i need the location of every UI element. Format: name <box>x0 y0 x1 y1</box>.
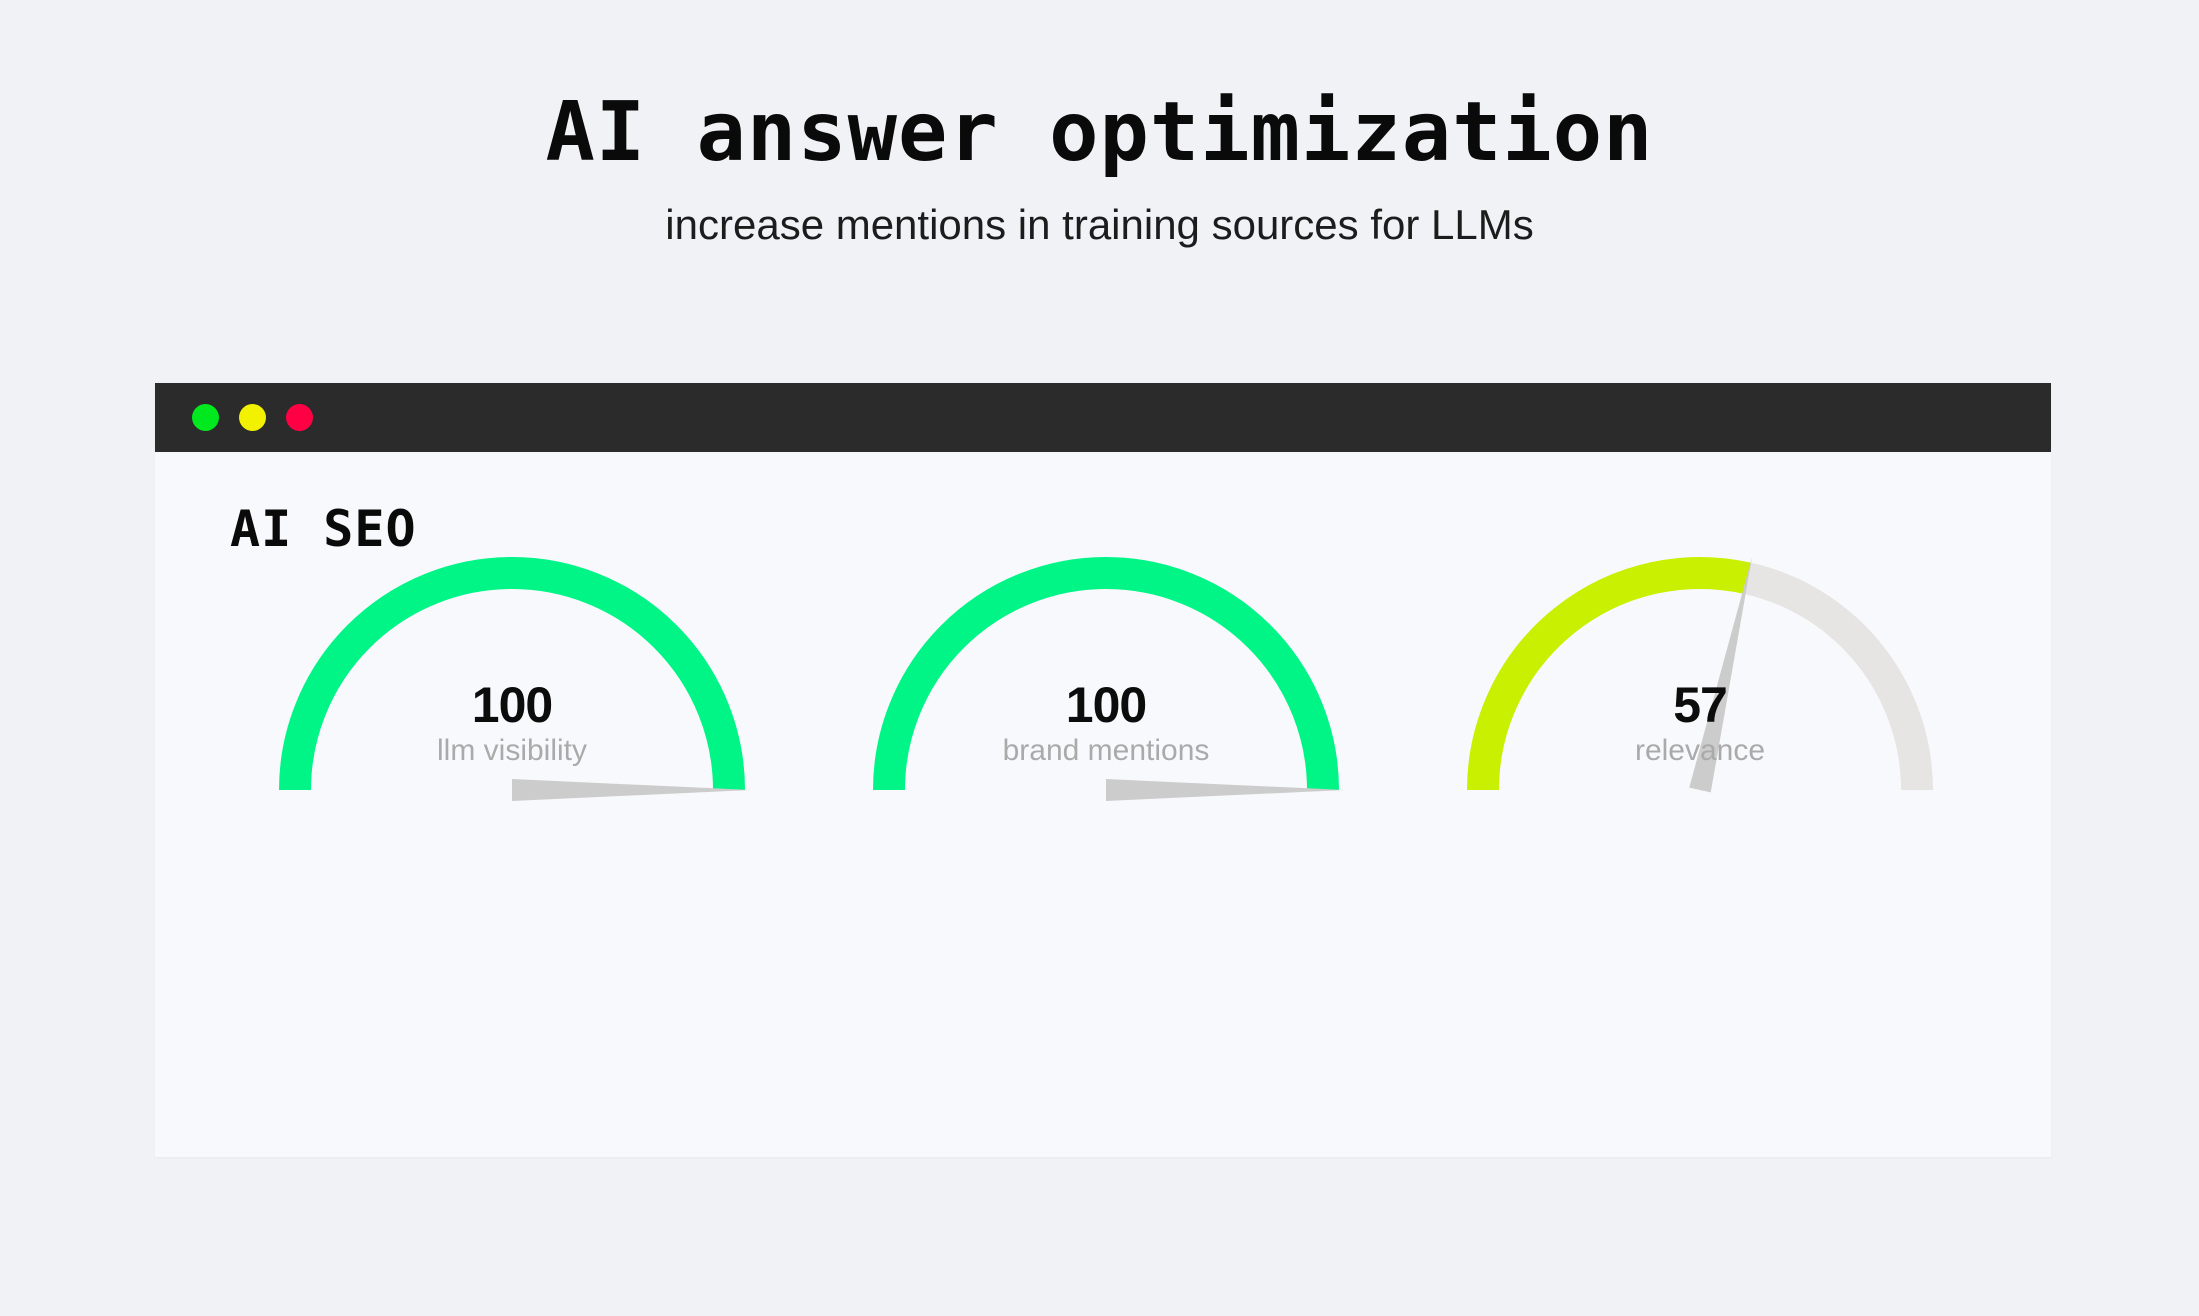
gauge-value-arc <box>295 573 729 790</box>
browser-window-card: AI SEO 100llm visibility100brand mention… <box>155 383 2051 1157</box>
gauge-needle <box>1689 557 1752 793</box>
window-red-dot-icon[interactable] <box>286 404 313 431</box>
gauge-brand-mentions: 100brand mentions <box>853 538 1359 838</box>
window-yellow-dot-icon[interactable] <box>239 404 266 431</box>
browser-titlebar <box>155 383 2051 452</box>
hero-header: AI answer optimization increase mentions… <box>0 0 2199 246</box>
gauge-value-arc <box>889 573 1323 790</box>
gauge-llm-visibility: 100llm visibility <box>259 538 765 838</box>
window-green-dot-icon[interactable] <box>192 404 219 431</box>
page-root: AI answer optimization increase mentions… <box>0 0 2199 1316</box>
page-title: AI answer optimization <box>0 0 2199 174</box>
gauge-track-arc <box>1747 578 1917 790</box>
browser-content-area: AI SEO 100llm visibility100brand mention… <box>155 452 2051 1157</box>
gauge-relevance: 57relevance <box>1447 538 1953 838</box>
gauge-row: 100llm visibility100brand mentions57rele… <box>155 538 2051 868</box>
page-subtitle: increase mentions in training sources fo… <box>0 174 2199 246</box>
